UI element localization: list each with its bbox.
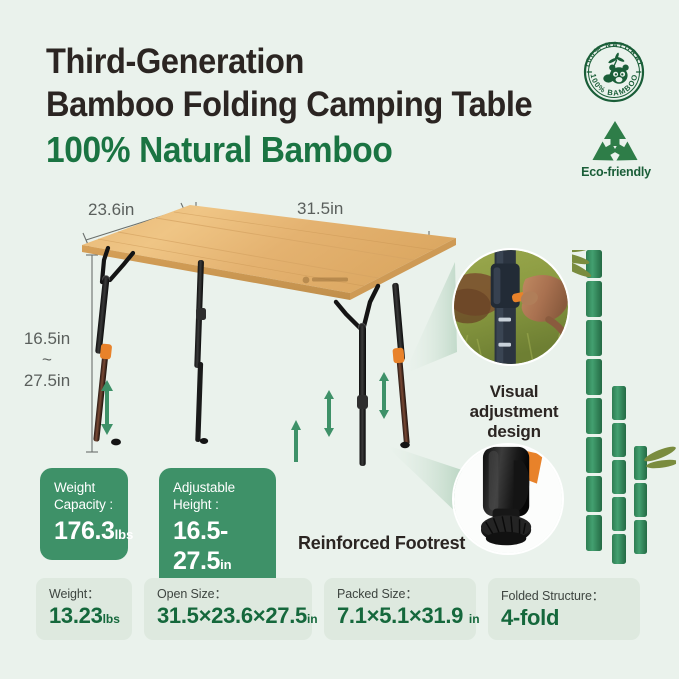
bottom-spec-label: Open Size： xyxy=(157,587,299,602)
bottom-spec-open-size: Open Size： 31.5×23.6×27.5in xyxy=(144,578,312,640)
bottom-spec-number: 4-fold xyxy=(501,605,559,630)
bottom-spec-value: 4-fold xyxy=(501,605,627,631)
leg-back-left xyxy=(194,260,208,444)
orange-clamp xyxy=(100,343,113,359)
callout-visual-adjustment-photo xyxy=(452,248,570,366)
bottom-spec-unit: in xyxy=(307,612,318,626)
infographic-page: Third-Generation Bamboo Folding Camping … xyxy=(0,0,679,679)
spec-card-adjustable-height: Adjustable Height : 16.5-27.5in xyxy=(159,468,276,590)
callout-reinforced-footrest-label: Reinforced Footrest xyxy=(298,533,474,554)
bottom-spec-weight: Weight： 13.23lbs xyxy=(36,578,132,640)
spec-label-line-1: Adjustable xyxy=(173,480,235,495)
callout-visual-line-1: Visual adjustment xyxy=(470,382,559,421)
bottom-spec-number: 13.23 xyxy=(49,603,103,628)
leg-front-right xyxy=(336,286,378,466)
bamboo-stalk-short xyxy=(634,446,647,554)
leg-front-left xyxy=(93,248,133,445)
dimension-height-min: 16.5in xyxy=(24,329,70,348)
title-line-2: Bamboo Folding Camping Table xyxy=(46,83,530,126)
bottom-spec-row: Weight： 13.23lbs Open Size： 31.5×23.6×27… xyxy=(36,578,644,640)
bamboo-stalks-decoration xyxy=(572,250,676,572)
dimension-height-separator: ~ xyxy=(42,350,52,369)
bottom-spec-label: Packed Size： xyxy=(337,587,463,602)
eco-friendly-label: Eco-friendly xyxy=(566,165,666,179)
tabletop xyxy=(82,205,456,300)
callout-visual-line-2: design xyxy=(487,422,541,441)
spec-value-number: 176.3 xyxy=(54,517,115,545)
title-accent-line: 100% Natural Bamboo xyxy=(46,126,530,174)
bottom-spec-unit: in xyxy=(469,612,480,626)
bottom-spec-value: 13.23lbs xyxy=(49,603,119,632)
spec-card-value: 176.3lbs xyxy=(54,516,114,550)
bottom-spec-packed-size: Packed Size： 7.1×5.1×31.9 in xyxy=(324,578,476,640)
bottom-spec-number: 7.1×5.1×31.9 xyxy=(337,603,463,628)
bottom-spec-value: 7.1×5.1×31.9 in xyxy=(337,603,463,632)
callout-visual-adjustment-label: Visual adjustment design xyxy=(444,382,584,442)
natural-bamboo-badge-icon: 100% NATURAL 100% BAMBOO xyxy=(578,36,650,108)
spec-value-unit: lbs xyxy=(115,527,134,542)
spec-label-line-2: Capacity : xyxy=(54,497,113,512)
bottom-spec-unit: lbs xyxy=(103,612,120,626)
height-adjust-arrows xyxy=(101,372,389,462)
spec-card-label: Weight Capacity : xyxy=(54,480,114,513)
dimension-height-max: 27.5in xyxy=(24,371,70,390)
title-line-1: Third-Generation xyxy=(46,40,530,83)
bamboo-stalk-tall xyxy=(586,250,602,551)
spec-card-value: 16.5-27.5in xyxy=(173,516,262,580)
bottom-spec-value: 31.5×23.6×27.5in xyxy=(157,603,299,632)
bamboo-stalk-mid xyxy=(612,386,626,564)
spec-card-label: Adjustable Height : xyxy=(173,480,262,513)
spec-label-line-2: Height : xyxy=(173,497,219,512)
dimension-height-label: 16.5in ~ 27.5in xyxy=(8,328,86,391)
leg-back-right xyxy=(392,283,410,448)
bottom-spec-number: 31.5×23.6×27.5 xyxy=(157,603,307,628)
bottom-spec-label: Weight： xyxy=(49,587,119,602)
orange-clamp xyxy=(392,348,404,364)
bottom-spec-label: Folded Structure： xyxy=(501,589,627,604)
spec-card-weight-capacity: Weight Capacity : 176.3lbs xyxy=(40,468,128,560)
bottom-spec-folded-structure: Folded Structure： 4-fold xyxy=(488,578,640,640)
spec-value-unit: in xyxy=(220,557,232,572)
page-title: Third-Generation Bamboo Folding Camping … xyxy=(46,40,566,174)
product-image-camping-table xyxy=(78,190,458,490)
spec-label-line-1: Weight xyxy=(54,480,95,495)
